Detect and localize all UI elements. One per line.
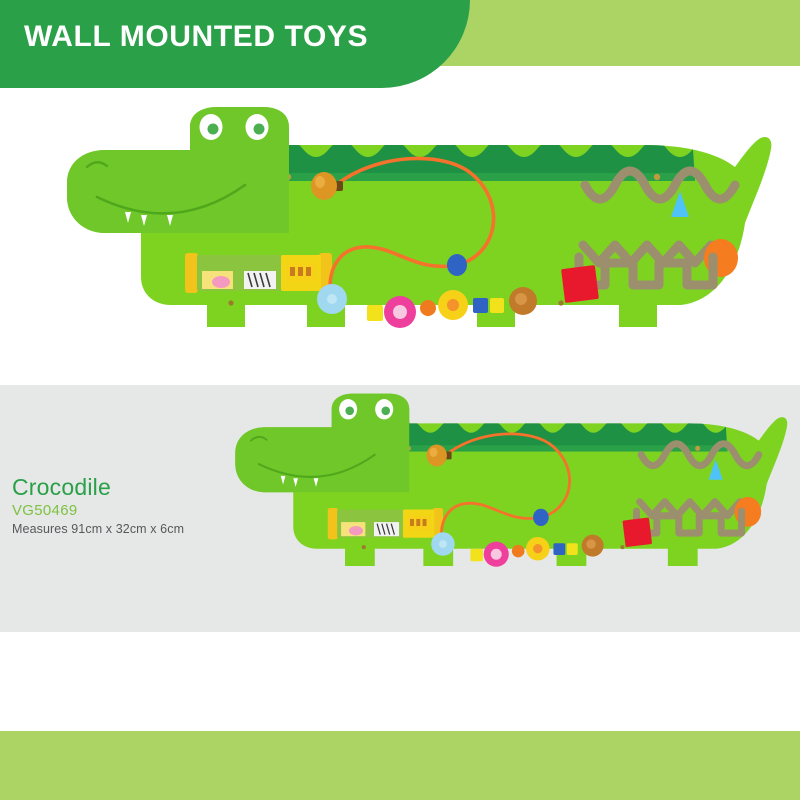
roller-blocks: [185, 253, 332, 293]
bead-blue-slider: [447, 254, 467, 276]
white-spacer: [0, 632, 800, 731]
pupil-left: [208, 124, 219, 135]
page-title: WALL MOUNTED TOYS: [24, 20, 368, 54]
pupil-left: [345, 406, 354, 415]
product-catalogue-page: WALL MOUNTED TOYS: [0, 0, 800, 800]
header-banner: WALL MOUNTED TOYS: [0, 0, 470, 88]
bead-amber-anchor-highlight: [315, 176, 325, 188]
shape-square-slider: [561, 265, 599, 303]
roller-blocks: [328, 508, 443, 539]
crocodile-toy-detail: [218, 392, 798, 592]
bead-amber-anchor-highlight: [430, 448, 438, 457]
shape-square-slider: [622, 517, 652, 547]
spine-screw-right: [654, 174, 660, 180]
crocodile-illustration-large: [45, 105, 785, 350]
pupil-right: [381, 406, 390, 415]
footer-accent-band: [0, 731, 800, 800]
body-screw-left: [362, 545, 366, 549]
spine-screw-right: [695, 446, 700, 451]
body-screw-right: [558, 300, 563, 305]
body-screw-right: [620, 545, 624, 549]
bead-flower-blue-center: [439, 540, 447, 548]
pupil-right: [254, 124, 265, 135]
crocodile-illustration-small: [218, 392, 798, 584]
crocodile-toy-hero: [45, 105, 785, 350]
body-screw-left: [228, 300, 233, 305]
bead-amber-anchor: [426, 445, 446, 467]
bead-flower-blue-center: [327, 294, 337, 304]
bead-amber-anchor: [311, 172, 337, 200]
bead-blue-slider: [533, 509, 549, 526]
